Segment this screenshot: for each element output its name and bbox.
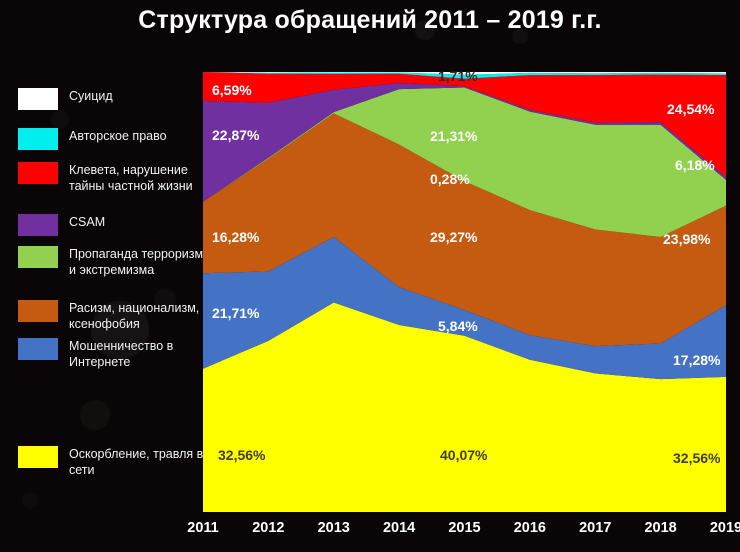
data-label: 29,27%: [430, 229, 477, 245]
x-axis-tick-2013: 2013: [318, 520, 350, 536]
data-label: 6,59%: [212, 82, 252, 98]
x-axis-tick-2014: 2014: [383, 520, 415, 536]
data-label: 1,71%: [438, 68, 478, 84]
data-label: 16,28%: [212, 229, 259, 245]
data-label: 5,84%: [438, 318, 478, 334]
data-label: 22,87%: [212, 127, 259, 143]
data-label: 32,56%: [218, 447, 265, 463]
data-label: 21,71%: [212, 305, 259, 321]
x-axis-tick-2017: 2017: [579, 520, 611, 536]
x-axis-tick-2011: 2011: [187, 520, 218, 536]
x-axis-tick-2016: 2016: [514, 520, 546, 536]
data-label: 23,98%: [663, 231, 710, 247]
x-axis-tick-2019: 2019: [710, 520, 740, 536]
x-axis-tick-2018: 2018: [644, 520, 676, 536]
data-label: 17,28%: [673, 352, 720, 368]
data-label: 0,28%: [430, 171, 470, 187]
x-axis-tick-2015: 2015: [448, 520, 480, 536]
data-label: 24,54%: [667, 101, 714, 117]
x-axis-tick-2012: 2012: [252, 520, 284, 536]
data-label: 40,07%: [440, 447, 487, 463]
stacked-area-chart: [0, 0, 740, 552]
data-label: 32,56%: [673, 450, 720, 466]
data-label: 21,31%: [430, 128, 477, 144]
data-label: 6,18%: [675, 157, 715, 173]
